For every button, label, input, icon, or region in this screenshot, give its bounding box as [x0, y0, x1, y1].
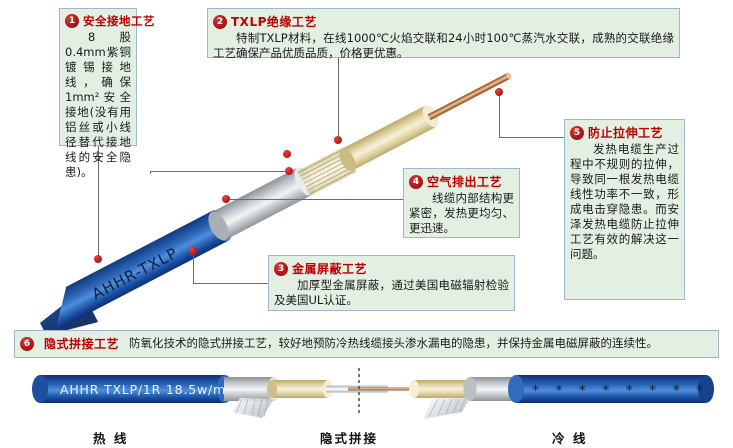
callout-box-2[interactable]: 2 TXLP绝缘工艺 特制TXLP材料，在线1000℃火焰交联和24小时100℃…	[207, 8, 680, 58]
callout-5-header: 5 防止拉伸工艺	[570, 124, 679, 141]
cold-braid-fan	[424, 398, 470, 419]
label-splice: 隐式拼接	[320, 428, 378, 447]
bottom-cable-cold-text: * * * * * * * * * *	[532, 383, 718, 399]
leader-line-4-h	[226, 199, 404, 200]
label-hot-line: 热 线	[93, 428, 128, 447]
callout-4-header: 4 空气排出工艺	[409, 173, 514, 190]
callout-4-badge: 4	[409, 175, 423, 189]
callout-2-badge: 2	[213, 15, 227, 29]
callout-6-body: 防氧化技术的隐式拼接工艺，较好地预防冷热线缆接头渗水漏电的隐患，并保持金属电磁屏…	[129, 336, 658, 351]
anchor-dot-4	[222, 195, 230, 203]
anchor-dot-shield	[285, 167, 293, 175]
callout-5-title: 防止拉伸工艺	[588, 124, 663, 141]
callout-1-body: 8股0.4mm紫铜镀锡接地线，确保1mm²安全接地(没有用铝丝或小线径替代接地线…	[65, 30, 131, 180]
anchor-dot-5	[495, 88, 503, 96]
callout-2-title: TXLP绝缘工艺	[231, 13, 317, 30]
anchor-dot-2	[334, 136, 342, 144]
callout-box-4[interactable]: 4 空气排出工艺 线缆内部结构更紧密，发热更均匀、更迅速。	[403, 168, 520, 238]
leader-line-3-h	[193, 283, 269, 284]
callout-3-body: 加厚型金属屏蔽，通过美国电磁辐射检验及美国UL认证。	[274, 278, 509, 308]
anchor-dot-1	[94, 255, 102, 263]
callout-box-5[interactable]: 5 防止拉伸工艺 发热电缆生产过程中不规则的拉伸，导致同一根发热电缆线性功率不一…	[564, 119, 685, 300]
callout-1-header: 1 安全接地工艺	[65, 13, 131, 29]
label-cold-line: 冷 线	[552, 428, 587, 447]
callout-2-body: 特制TXLP材料，在线1000℃火焰交联和24小时100℃蒸汽水交联，成熟的交联…	[213, 31, 674, 61]
callout-box-3[interactable]: 3 金属屏蔽工艺 加厚型金属屏蔽，通过美国电磁辐射检验及美国UL认证。	[268, 255, 515, 311]
bottom-cable-hot: AHHR TXLP/1R 18.5w/m	[32, 375, 410, 418]
callout-1-title: 安全接地工艺	[83, 13, 155, 29]
leader-line-shield-h	[150, 171, 289, 172]
callout-6-row: 6 隐式拼接工艺 防氧化技术的隐式拼接工艺，较好地预防冷热线缆接头渗水漏电的隐患…	[20, 335, 713, 352]
callout-6-title: 隐式拼接工艺	[44, 335, 119, 352]
callout-3-header: 3 金属屏蔽工艺	[274, 260, 509, 277]
leader-line-2-v	[338, 58, 339, 140]
callout-6-badge: 6	[20, 337, 34, 351]
bottom-cable-hot-text: AHHR TXLP/1R 18.5w/m	[60, 382, 226, 397]
callout-3-badge: 3	[274, 262, 288, 276]
bottom-cable-cold: * * * * * * * * * *	[363, 375, 718, 419]
callout-box-6[interactable]: 6 隐式拼接工艺 防氧化技术的隐式拼接工艺，较好地预防冷热线缆接头渗水漏电的隐患…	[14, 330, 719, 358]
anchor-dot-3	[189, 247, 197, 255]
leader-line-5-h	[499, 137, 565, 138]
bottom-cable-illustration: AHHR TXLP/1R 18.5w/m	[18, 368, 718, 420]
leader-line-3-v	[193, 253, 194, 284]
callout-4-title: 空气排出工艺	[427, 173, 502, 190]
diagram-stage: AHHR-TXLP	[0, 0, 733, 448]
callout-box-1[interactable]: 1 安全接地工艺 8股0.4mm紫铜镀锡接地线，确保1mm²安全接地(没有用铝丝…	[59, 8, 137, 146]
leader-line-5-v	[499, 93, 500, 137]
callout-5-badge: 5	[570, 126, 584, 140]
callout-2-header: 2 TXLP绝缘工艺	[213, 13, 674, 30]
callout-4-body: 线缆内部结构更紧密，发热更均匀、更迅速。	[409, 191, 514, 236]
callout-1-badge: 1	[65, 14, 79, 28]
callout-5-body: 发热电缆生产过程中不规则的拉伸，导致同一根发热电缆线性功率不一致，形成电击穿隐患…	[570, 142, 679, 262]
anchor-dot-braid	[283, 150, 291, 158]
leader-line-shield-v	[150, 171, 151, 174]
callout-3-title: 金属屏蔽工艺	[292, 260, 367, 277]
